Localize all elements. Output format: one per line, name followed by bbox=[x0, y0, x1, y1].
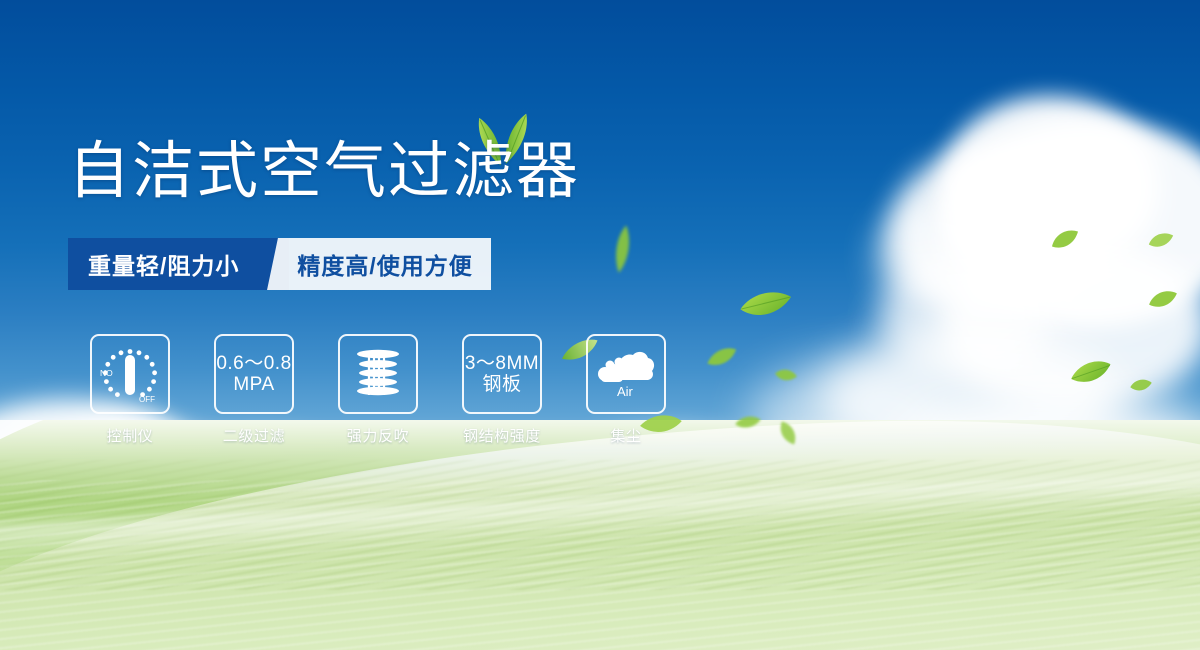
subtitle-right: 精度高/使用方便 bbox=[289, 238, 490, 290]
steel-value-line2: 钢板 bbox=[482, 374, 521, 395]
filter-coil-icon bbox=[347, 343, 409, 405]
feature-label: 集尘 bbox=[610, 425, 641, 446]
feature-item-pressure[interactable]: 0.6～0.8 MPA 二级过滤 bbox=[192, 334, 316, 446]
feature-item-steel[interactable]: 3～8MM 钢板 钢结构强度 bbox=[440, 334, 564, 446]
feature-item-backblow[interactable]: 强力反吹 bbox=[316, 334, 440, 446]
subtitle-bar: 重量轻/阻力小 精度高/使用方便 bbox=[68, 238, 491, 290]
feature-label: 钢结构强度 bbox=[463, 425, 541, 446]
feature-label: 强力反吹 bbox=[347, 425, 409, 446]
feature-item-control[interactable]: NO OFF 控制仪 bbox=[68, 334, 192, 446]
feature-box: NO OFF bbox=[90, 334, 170, 414]
hero-banner: 自洁式空气过滤器 重量轻/阻力小 精度高/使用方便 bbox=[0, 0, 1200, 650]
feature-box: Air bbox=[586, 334, 666, 414]
hero-content: 自洁式空气过滤器 重量轻/阻力小 精度高/使用方便 bbox=[0, 0, 1200, 650]
pressure-value-line2: MPA bbox=[233, 374, 274, 395]
subtitle-left: 重量轻/阻力小 bbox=[68, 238, 263, 290]
pressure-value-line1: 0.6～0.8 bbox=[216, 353, 291, 374]
feature-label: 控制仪 bbox=[107, 425, 154, 446]
feature-box: 0.6～0.8 MPA bbox=[214, 334, 294, 414]
feature-list: NO OFF 控制仪 0.6～0.8 MPA 二级过滤 bbox=[68, 334, 688, 446]
subtitle-divider bbox=[263, 238, 289, 290]
feature-box bbox=[338, 334, 418, 414]
feature-label: 二级过滤 bbox=[223, 425, 285, 446]
steel-value-line1: 3～8MM bbox=[465, 353, 539, 374]
feature-item-dust[interactable]: Air 集尘 bbox=[564, 334, 688, 446]
control-dial-icon: NO OFF bbox=[95, 339, 165, 409]
svg-text:OFF: OFF bbox=[139, 395, 155, 404]
air-label: Air bbox=[617, 384, 634, 399]
feature-box: 3～8MM 钢板 bbox=[462, 334, 542, 414]
svg-text:NO: NO bbox=[100, 368, 113, 378]
air-cloud-icon: Air bbox=[593, 344, 659, 404]
page-title: 自洁式空气过滤器 bbox=[68, 141, 580, 203]
